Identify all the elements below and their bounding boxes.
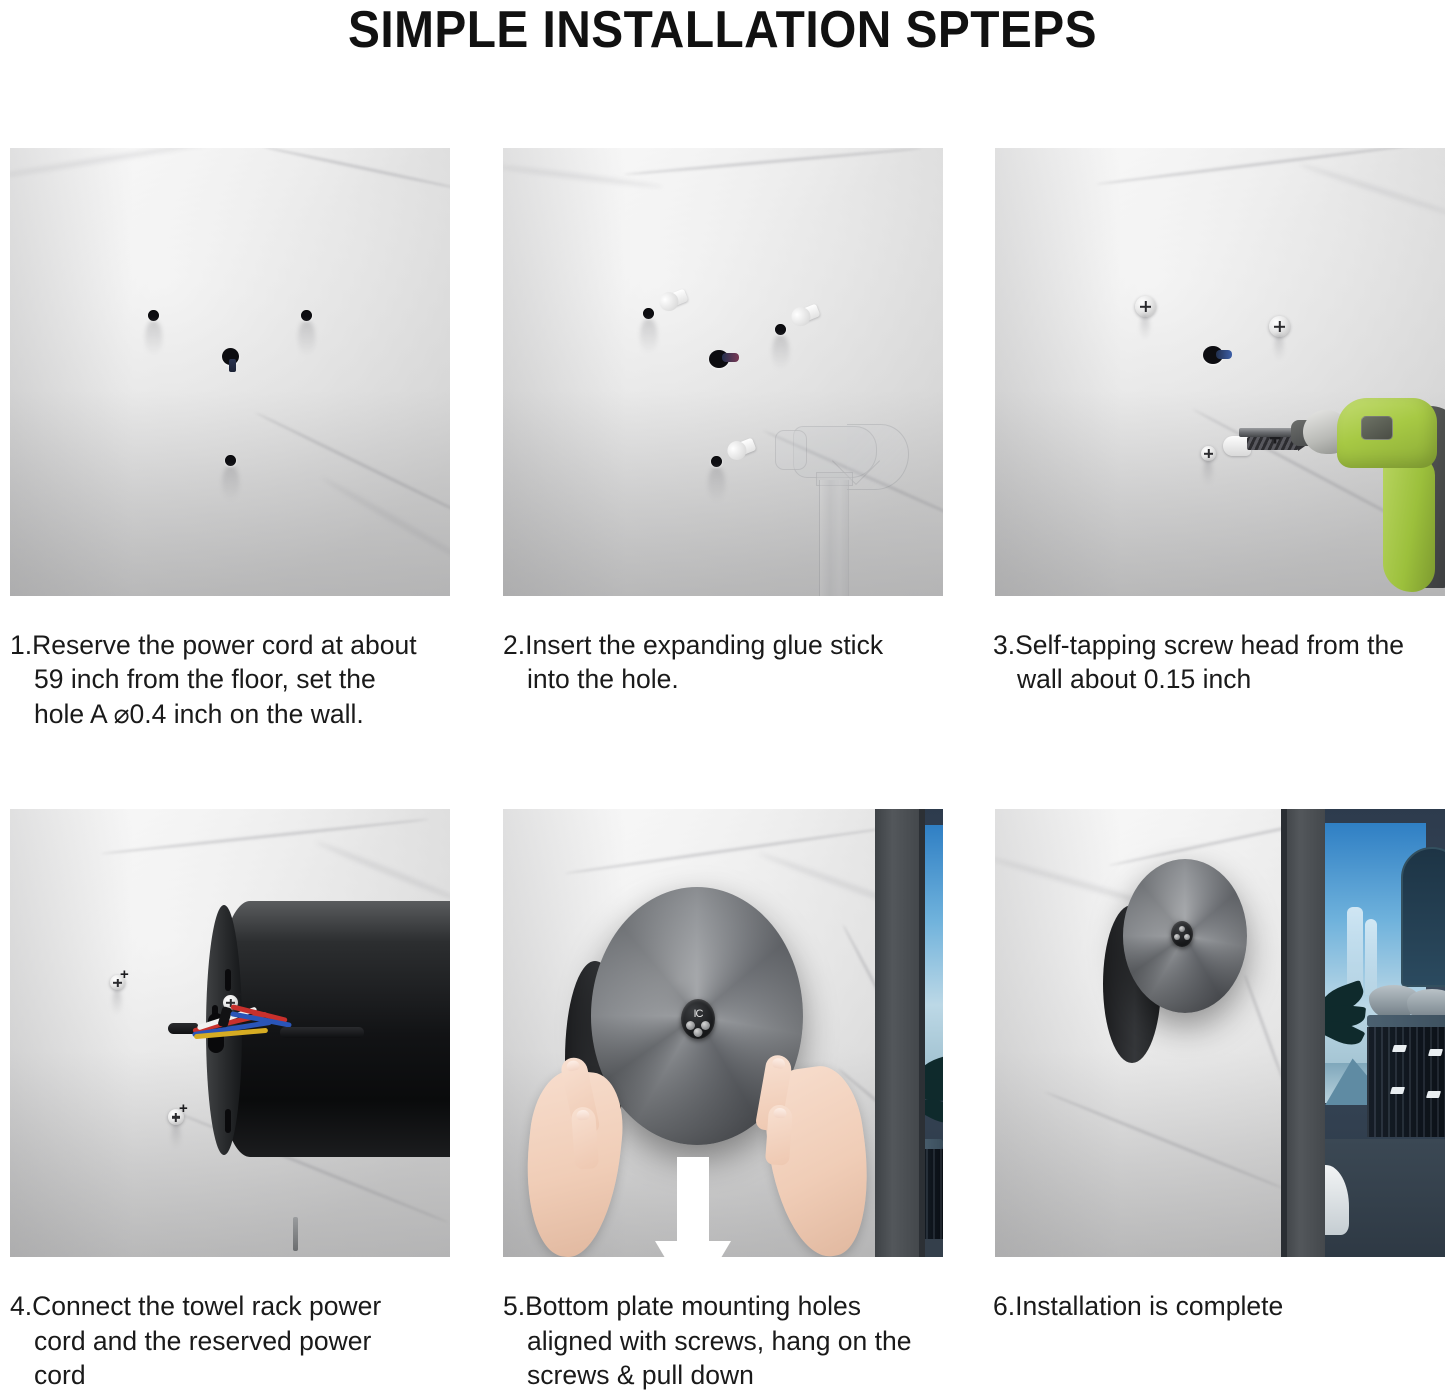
drill-hole-bottom xyxy=(711,456,722,467)
control-button-right[interactable] xyxy=(701,1021,710,1030)
hammer-face xyxy=(775,430,807,470)
step-5-caption: 5.Bottom plate mounting holes aligned wi… xyxy=(503,1289,943,1392)
step-3-image: + xyxy=(995,148,1445,596)
step-2-cell: 2.Insert the expanding glue stick into t… xyxy=(503,148,943,731)
step-1-cell: 1.Reserve the power cord at about 59 inc… xyxy=(10,148,450,731)
reserved-power-cord xyxy=(222,348,239,365)
mounting-slot-top xyxy=(225,969,231,991)
step-5-image: IC xyxy=(503,809,943,1257)
screw-cross-slot xyxy=(1204,452,1212,454)
step-3-cell: + 3.Self-tapping screw head from the wal… xyxy=(995,148,1445,731)
drill-hole-upper-left xyxy=(148,310,159,321)
screw-plus-marker: + xyxy=(120,967,129,982)
step-1-caption: 1.Reserve the power cord at about 59 inc… xyxy=(10,628,450,731)
screw-plus-marker: + xyxy=(233,987,242,1002)
steps-row-top: 1.Reserve the power cord at about 59 inc… xyxy=(0,148,1445,731)
control-button-right[interactable] xyxy=(1184,934,1190,940)
bathroom-scene xyxy=(1325,809,1445,1257)
left-middle-finger xyxy=(571,1107,599,1171)
power-cord-tail xyxy=(1216,350,1232,359)
door-frame xyxy=(875,809,919,1257)
drawer-pull xyxy=(1426,1091,1441,1098)
display-readout: IC xyxy=(694,1009,703,1020)
bathroom-mirror xyxy=(1401,847,1445,987)
control-button-bottom[interactable] xyxy=(694,1028,703,1037)
mounting-slot-bottom xyxy=(225,1109,231,1133)
drill-bit xyxy=(1239,428,1295,437)
control-button-top[interactable] xyxy=(1179,926,1185,932)
arrow-stem xyxy=(677,1157,709,1243)
drill-hole-bottom xyxy=(225,455,236,466)
reserved-power-cord xyxy=(1203,346,1223,364)
reserved-power-cord xyxy=(709,350,729,368)
step-3-caption: 3.Self-tapping screw head from the wall … xyxy=(995,628,1445,697)
vanity-countertop xyxy=(1367,1015,1445,1027)
self-tapping-screw-upper-right xyxy=(1269,316,1290,337)
step-6-cell: 6.Installation is complete xyxy=(995,809,1445,1392)
drill-grip-front xyxy=(1383,456,1435,592)
door-frame xyxy=(1283,809,1325,1257)
screw-cross-slot xyxy=(1274,325,1286,327)
drill-display-window xyxy=(1361,416,1393,440)
step-4-caption: 4.Connect the towel rack power cord and … xyxy=(10,1289,450,1392)
door-frame-edge xyxy=(1281,809,1287,1257)
skyline-building xyxy=(1365,919,1377,995)
arrow-head xyxy=(655,1241,731,1257)
step-5-cell: IC xyxy=(503,809,943,1392)
step-4-image: + + + xyxy=(10,809,450,1257)
step-6-image xyxy=(995,809,1445,1257)
screw-cross-slot xyxy=(1140,305,1152,307)
drill-hole-upper-right xyxy=(301,310,312,321)
step-1-image xyxy=(10,148,450,596)
towel-rack-power-cord xyxy=(280,1027,364,1038)
drill-hole-upper-right xyxy=(775,324,786,335)
hammer-handle xyxy=(819,480,849,596)
step-4-cell: + + + xyxy=(10,809,450,1392)
drawer-pull xyxy=(1390,1087,1405,1094)
steps-row-bottom: + + + xyxy=(0,809,1445,1392)
page-title: SIMPLE INSTALLATION SPTEPS xyxy=(58,0,1387,68)
rack-support-pin xyxy=(293,1217,298,1251)
screw-plus-marker: + xyxy=(179,1101,188,1116)
wire-connection-bundle xyxy=(168,1005,348,1049)
step-2-caption: 2.Insert the expanding glue stick into t… xyxy=(503,628,943,697)
vanity-ribs xyxy=(1367,1027,1445,1137)
drawer-pull xyxy=(1428,1049,1443,1056)
fingernail xyxy=(576,1110,590,1121)
fingernail xyxy=(773,1108,787,1119)
self-tapping-screw-bottom xyxy=(1201,446,1216,461)
hammer-icon xyxy=(775,420,925,596)
right-middle-finger xyxy=(765,1105,793,1167)
step-2-image xyxy=(503,148,943,596)
fingernail xyxy=(566,1060,581,1072)
door-frame-edge xyxy=(919,809,925,1257)
drawer-pull xyxy=(1392,1045,1407,1052)
self-tapping-screw-upper-left xyxy=(1135,296,1156,317)
fingernail xyxy=(771,1058,786,1070)
electric-screwdriver xyxy=(1285,398,1445,596)
power-cord-tail xyxy=(229,359,236,372)
installation-steps-grid: 1.Reserve the power cord at about 59 inc… xyxy=(0,148,1445,1393)
power-cord-tail xyxy=(722,353,739,362)
marble-wall-background xyxy=(10,148,450,596)
step-6-caption: 6.Installation is complete xyxy=(995,1289,1445,1323)
drill-hole-upper-left xyxy=(643,308,654,319)
vanity-cabinet xyxy=(1367,1027,1445,1137)
control-button-left[interactable] xyxy=(1174,934,1180,940)
